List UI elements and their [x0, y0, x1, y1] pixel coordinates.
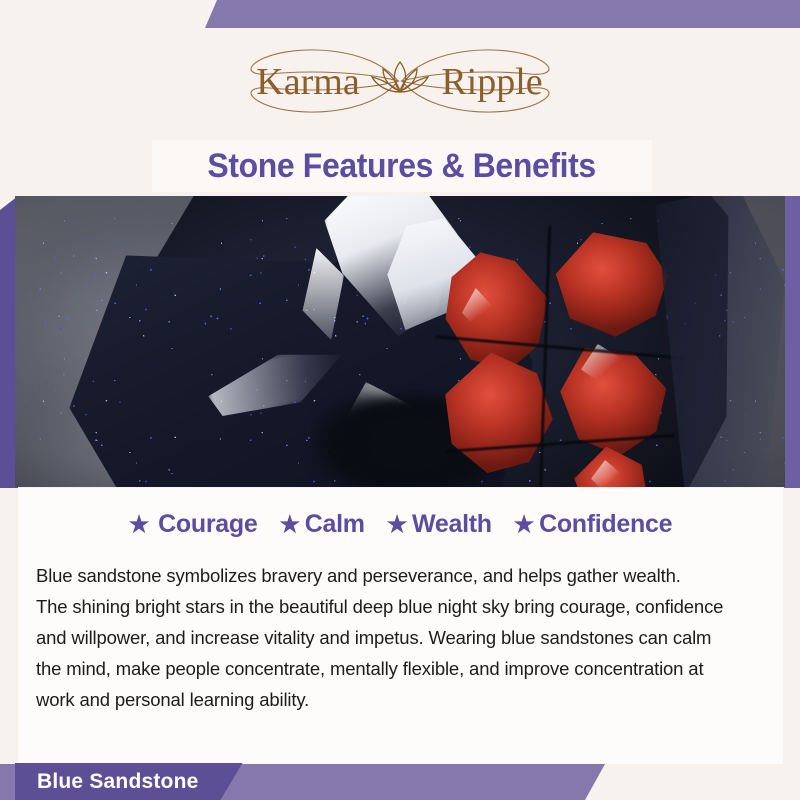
- stone-photo: [15, 196, 785, 487]
- description-line-4: the mind, make people concentrate, menta…: [36, 653, 769, 684]
- benefit-item-confidence: ★ Confidence: [514, 510, 672, 539]
- benefit-label: Courage: [158, 510, 257, 539]
- benefits-row: ★ Courage ★ Calm ★ Wealth ★ Confidence: [18, 510, 783, 539]
- benefit-label: Wealth: [412, 510, 492, 539]
- description-line-1: Blue sandstone symbolizes bravery and pe…: [36, 560, 769, 591]
- brand-logo-svg: Karma Ripple: [220, 38, 580, 124]
- benefit-label: Confidence: [539, 510, 672, 539]
- benefit-item-wealth: ★ Wealth: [387, 510, 492, 539]
- brand-logo: Karma Ripple: [0, 38, 800, 124]
- description-line-2: The shining bright stars in the beautifu…: [36, 591, 769, 622]
- right-decorative-stripe: [784, 193, 800, 488]
- benefit-label: Calm: [305, 510, 365, 539]
- stone-name-banner: Blue Sandstone: [15, 763, 243, 800]
- star-icon: ★: [279, 513, 299, 536]
- benefit-item-courage: ★ Courage: [129, 510, 258, 539]
- page-title: Stone Features & Benefits: [208, 147, 596, 186]
- description-line-3: and willpower, and increase vitality and…: [36, 622, 769, 653]
- star-icon: ★: [514, 513, 534, 536]
- photo-vignette: [15, 196, 785, 487]
- star-icon: ★: [387, 513, 407, 536]
- stone-name-label: Blue Sandstone: [37, 770, 199, 794]
- brand-name-left: Karma: [256, 61, 360, 103]
- top-decorative-band: [205, 0, 800, 28]
- star-icon: ★: [129, 513, 149, 536]
- page-title-plate: Stone Features & Benefits: [152, 140, 652, 192]
- description-block: Blue sandstone symbolizes bravery and pe…: [36, 560, 769, 715]
- benefit-item-calm: ★ Calm: [279, 510, 364, 539]
- description-line-5: work and personal learning ability.: [36, 684, 769, 715]
- brand-name-right: Ripple: [441, 61, 542, 103]
- lower-content-section: ★ Courage ★ Calm ★ Wealth ★ Confidence B…: [18, 488, 783, 764]
- header-section: Karma Ripple Stone Features & Benefits: [0, 28, 800, 196]
- infographic-page: Karma Ripple Stone Features & Benefits: [0, 0, 800, 800]
